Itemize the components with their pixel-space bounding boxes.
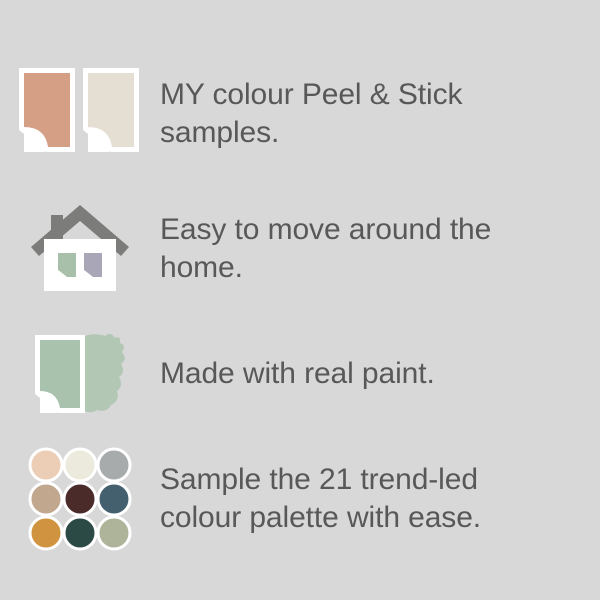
colour-palette-dots-icon	[28, 447, 132, 551]
feature-text-cell: Made with real paint.	[160, 314, 600, 434]
feature-label: Sample the 21 trend-led colour palette w…	[160, 461, 560, 538]
feature-icon-cell	[0, 314, 160, 434]
feature-text-cell: Sample the 21 trend-led colour palette w…	[160, 434, 600, 564]
feature-icon-cell	[0, 434, 160, 564]
palette-dot	[98, 517, 130, 549]
feature-row: Made with real paint.	[0, 314, 600, 434]
feature-text-cell: Easy to move around the home.	[160, 184, 600, 314]
house-walls	[44, 239, 116, 291]
feature-row: Sample the 21 trend-led colour palette w…	[0, 434, 600, 564]
feature-icon-cell	[0, 44, 160, 184]
feature-list: MY colour Peel & Stick samples.	[0, 44, 600, 564]
palette-dot	[30, 449, 62, 481]
palette-dot	[30, 483, 62, 515]
feature-icon-cell	[0, 184, 160, 314]
paint-brushstroke-icon	[23, 329, 138, 419]
palette-dot-row-2	[30, 483, 130, 515]
feature-row: Easy to move around the home.	[0, 184, 600, 314]
palette-dot	[64, 517, 96, 549]
feature-row: MY colour Peel & Stick samples.	[0, 44, 600, 184]
feature-label: Made with real paint.	[160, 355, 435, 393]
palette-dot-row-3	[30, 517, 130, 549]
house-icon	[25, 199, 135, 299]
feature-label: MY colour Peel & Stick samples.	[160, 76, 560, 153]
palette-dot	[64, 483, 96, 515]
palette-dot-row-1	[30, 449, 130, 481]
palette-dot	[98, 483, 130, 515]
feature-list-page: MY colour Peel & Stick samples.	[0, 0, 600, 600]
feature-text-cell: MY colour Peel & Stick samples.	[160, 44, 600, 184]
peel-and-stick-samples-icon	[15, 64, 145, 164]
feature-label: Easy to move around the home.	[160, 211, 560, 288]
palette-dot	[30, 517, 62, 549]
palette-dot	[64, 449, 96, 481]
palette-dot	[98, 449, 130, 481]
